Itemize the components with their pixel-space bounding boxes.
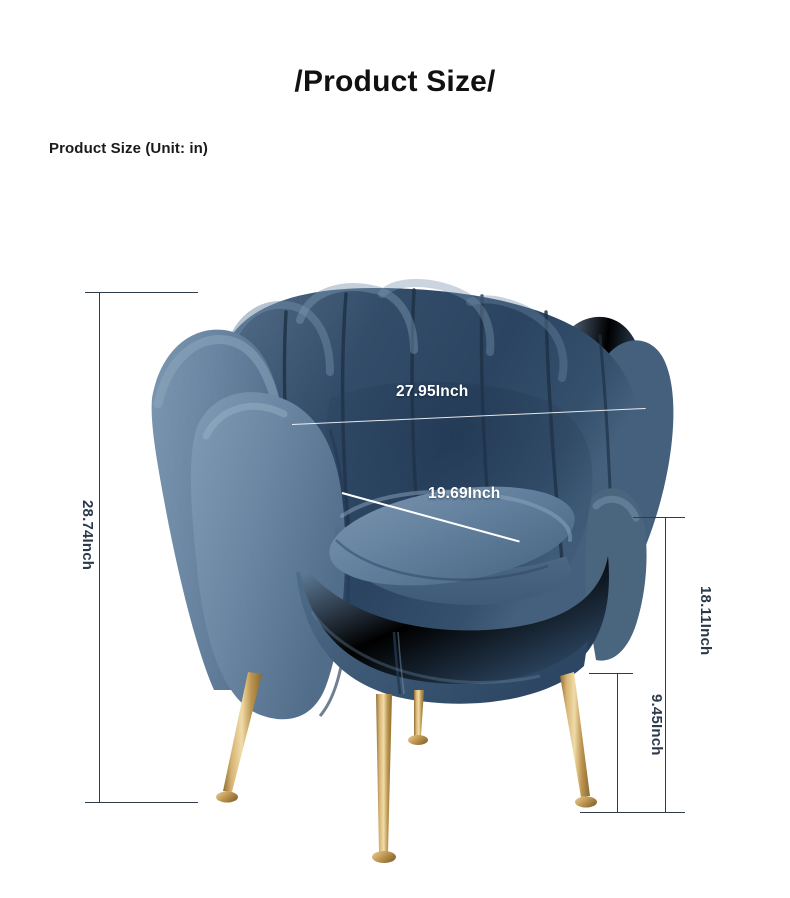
product-size-page: /Product Size/ Product Size (Unit: in) bbox=[0, 0, 790, 898]
seat-height-dim-label: 9.45Inch bbox=[648, 694, 665, 756]
seat-height-dim-line bbox=[617, 673, 618, 813]
depth-measure-label: 19.69Inch bbox=[428, 485, 500, 503]
back-height-dim-label: 18.11Inch bbox=[697, 586, 714, 655]
back-height-dim-line bbox=[665, 517, 666, 813]
product-image-chair bbox=[0, 0, 790, 898]
width-measure-label: 27.95Inch bbox=[396, 383, 468, 401]
back-height-dim-top-tick bbox=[633, 517, 685, 518]
height-dim-label: 28.74Inch bbox=[79, 500, 96, 570]
height-dim-bottom-tick bbox=[85, 802, 198, 803]
right-dim-bottom-tick bbox=[580, 812, 685, 813]
seat-height-dim-top-tick bbox=[589, 673, 633, 674]
height-dim-line bbox=[99, 292, 100, 803]
height-dim-top-tick bbox=[85, 292, 198, 293]
